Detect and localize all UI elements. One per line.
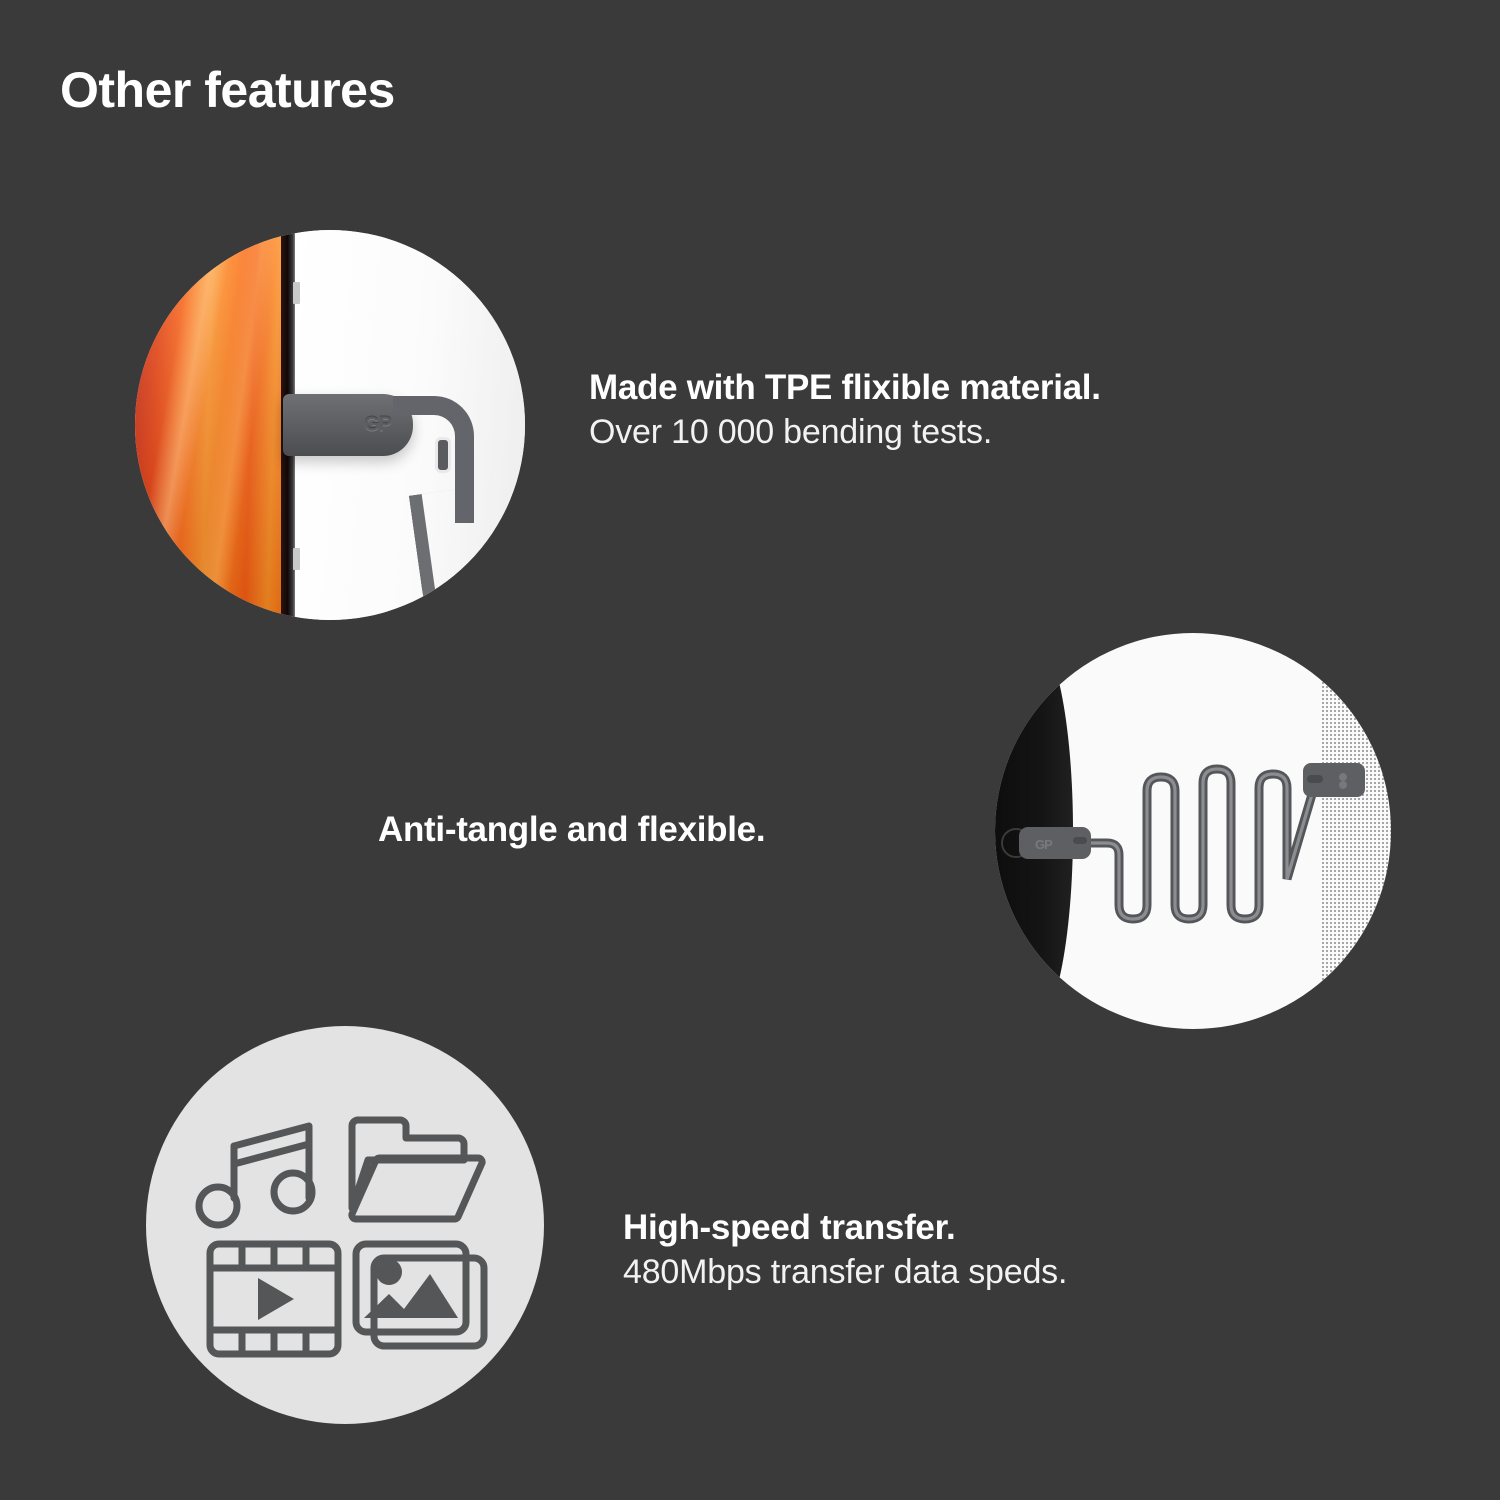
feature-2-heading: Anti-tangle and flexible.: [378, 808, 765, 852]
feature-3-heading: High-speed transfer.: [623, 1206, 1067, 1250]
feature-2-image-circle: GP: [995, 633, 1391, 1029]
svg-text:GP: GP: [1035, 837, 1053, 852]
folder-icon: [352, 1120, 482, 1219]
feature-1-image-circle: GP: [135, 230, 525, 620]
usb-c-connector-left: GP: [1019, 827, 1091, 859]
cable-strain-relief-slot: [435, 437, 451, 473]
feature-3-image-circle: [146, 1026, 544, 1424]
feature-1-text-block: Made with TPE flixible material. Over 10…: [589, 366, 1101, 454]
music-note-icon: [199, 1126, 312, 1225]
phone-side-button-top: [293, 282, 300, 304]
feature-3-text-block: High-speed transfer. 480Mbps transfer da…: [623, 1206, 1067, 1294]
gp-brand-logo: GP: [364, 414, 391, 437]
phone-side-button-bottom: [293, 548, 300, 570]
feature-1-subtext: Over 10 000 bending tests.: [589, 410, 1101, 454]
feature-1-heading: Made with TPE flixible material.: [589, 366, 1101, 410]
infographic-page: Other features GP Made with TPE flixible…: [0, 0, 1500, 1500]
feature-2-text-block: Anti-tangle and flexible.: [378, 808, 765, 852]
cable-body: [409, 482, 525, 620]
film-strip-play-icon: [210, 1244, 338, 1354]
page-title: Other features: [60, 64, 395, 117]
media-types-icons: [146, 1026, 544, 1424]
phone-wallpaper: [135, 230, 283, 620]
zigzag-cable-illustration: GP: [995, 633, 1391, 1029]
feature-3-subtext: 480Mbps transfer data speds.: [623, 1250, 1067, 1294]
usb-a-connector-right: [1303, 763, 1365, 797]
photo-stack-icon: [356, 1244, 484, 1346]
